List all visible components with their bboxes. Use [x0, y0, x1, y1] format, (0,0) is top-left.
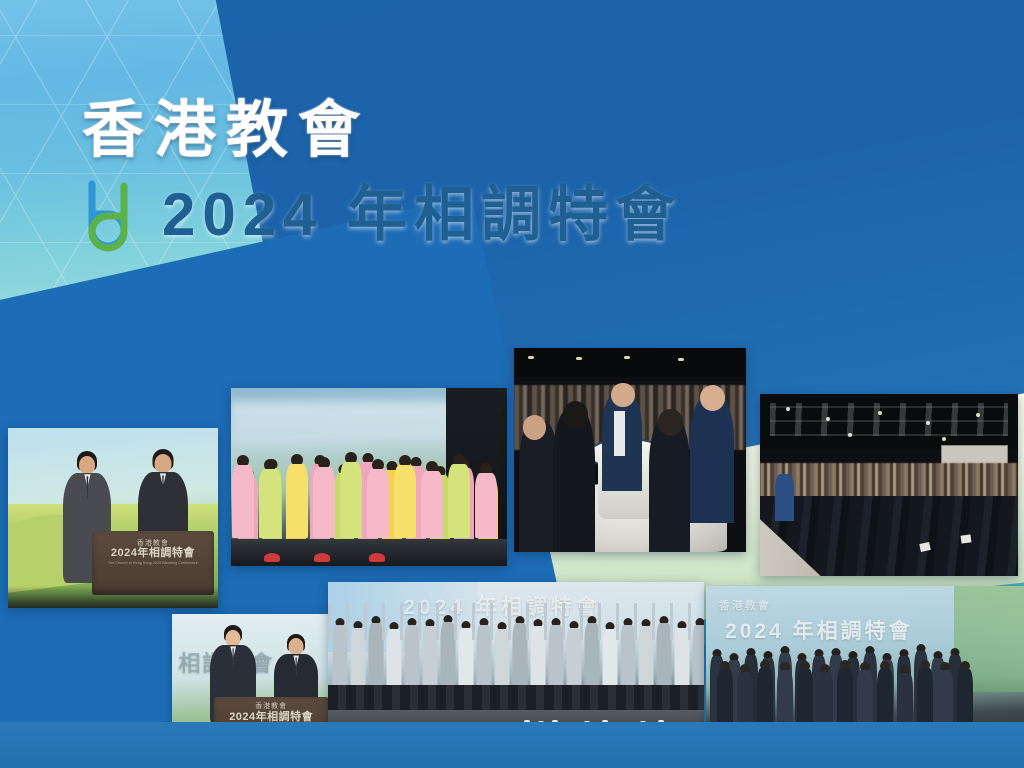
- poster-canvas: 香港教會 2024 年相調特會: [0, 0, 1024, 768]
- photo-children-choir: [231, 388, 507, 566]
- photo-youth-choir: 2024 年相調特會: [328, 582, 704, 734]
- page-title: 香港教會: [82, 100, 682, 162]
- photo-podium-speakers-left: 香港教會 2024年相調特會 The Church in Hong Kong 2…: [8, 428, 218, 608]
- subtitle-row: 2024 年相調特會: [82, 178, 682, 252]
- page-subtitle: 2024 年相調特會: [162, 185, 682, 245]
- blending-brand-logo-icon: [82, 178, 148, 252]
- photo-baptism-ceremony: [514, 348, 746, 552]
- podium-line-3: The Church in Hong Kong 2024 Blending Co…: [92, 562, 214, 566]
- poster-title-block: 香港教會 2024 年相調特會: [82, 100, 682, 252]
- bottom-color-strip: [0, 722, 1024, 768]
- photo-backdrop-line2-adult-choir: 2024 年相調特會: [725, 615, 913, 645]
- photo-backdrop-line1-adult-choir: 香港教會: [719, 597, 771, 613]
- podium-line-2: 2024年相調特會: [92, 548, 214, 560]
- photo-auditorium-audience: [760, 394, 1018, 576]
- podium-line-1: 香港教會: [92, 540, 214, 547]
- podium-line-1-bottom: 香港教會: [214, 703, 329, 710]
